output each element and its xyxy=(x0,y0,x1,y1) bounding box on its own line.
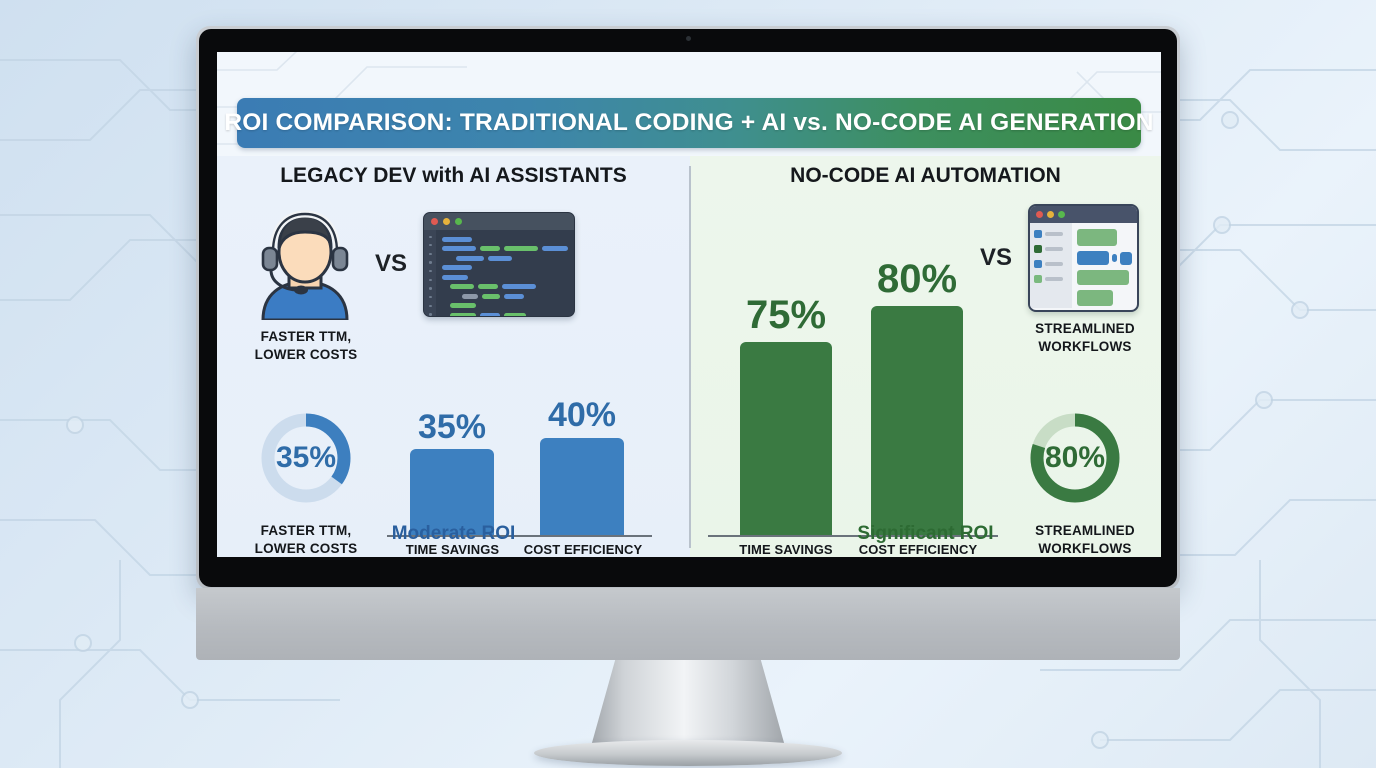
bar-value-time-savings-legacy: 35% xyxy=(399,408,505,447)
page-title: ROI COMPARISON: TRADITIONAL CODING + AI … xyxy=(224,109,1153,137)
code-lines xyxy=(436,230,574,316)
right-vs-label: VS xyxy=(980,244,1012,272)
bar-chart-nocode: 75% TIME SAVINGS 80% COST EFFICIENCY xyxy=(708,208,1008,548)
title-banner: ROI COMPARISON: TRADITIONAL CODING + AI … xyxy=(237,98,1141,148)
donut-right-value: 80% xyxy=(1027,410,1123,506)
webcam-icon xyxy=(686,36,691,41)
bar-value-time-savings-nocode: 75% xyxy=(726,293,846,338)
developer-caption: FASTER TTM, LOWER COSTS xyxy=(241,328,371,364)
close-dot-icon xyxy=(431,218,438,225)
bar-cost-efficiency-nocode xyxy=(871,306,963,535)
maximize-dot-icon xyxy=(455,218,462,225)
panel-legacy-dev: LEGACY DEV with AI ASSISTANTS xyxy=(217,156,690,557)
panel-right-heading: NO-CODE AI AUTOMATION xyxy=(690,164,1161,188)
close-dot-icon xyxy=(1036,211,1043,218)
code-window-body xyxy=(424,230,574,316)
code-window-titlebar xyxy=(424,213,574,230)
monitor-stand-base xyxy=(534,740,842,766)
donut-left-value: 35% xyxy=(258,410,354,506)
bar-chart-legacy: 35% TIME SAVINGS 40% COST EFFICIENCY xyxy=(387,386,667,546)
monitor-frame: ROI COMPARISON: TRADITIONAL CODING + AI … xyxy=(196,26,1180,590)
roi-label-left: Moderate ROI xyxy=(217,523,690,545)
minimize-dot-icon xyxy=(443,218,450,225)
panel-left-heading: LEGACY DEV with AI ASSISTANTS xyxy=(217,164,690,188)
right-icon-row: VS xyxy=(980,204,1139,312)
bar-value-cost-efficiency-legacy: 40% xyxy=(527,396,637,435)
bar-value-cost-efficiency-nocode: 80% xyxy=(856,257,978,302)
monitor-chin xyxy=(196,588,1180,660)
roi-label-right: Significant ROI xyxy=(690,523,1161,545)
bar-cost-efficiency-legacy xyxy=(540,438,624,535)
no-code-builder-window xyxy=(1028,204,1139,312)
monitor-screen: ROI COMPARISON: TRADITIONAL CODING + AI … xyxy=(217,52,1161,557)
minimize-dot-icon xyxy=(1047,211,1054,218)
developer-headset-icon xyxy=(253,208,357,320)
code-gutter xyxy=(424,230,436,316)
nocode-canvas xyxy=(1072,223,1137,308)
panel-divider xyxy=(689,166,691,548)
maximize-dot-icon xyxy=(1058,211,1065,218)
nocode-window-caption: STREAMLINED WORKFLOWS xyxy=(1021,320,1149,356)
nocode-window-titlebar xyxy=(1030,206,1137,223)
panel-no-code: NO-CODE AI AUTOMATION 75% TIME SAVINGS 8… xyxy=(690,156,1161,557)
comparison-panels: LEGACY DEV with AI ASSISTANTS xyxy=(217,156,1161,557)
nocode-sidebar xyxy=(1030,223,1072,308)
bar-time-savings-nocode xyxy=(740,342,832,535)
donut-chart-streamlined: 80% xyxy=(1027,410,1123,506)
left-vs-label: VS xyxy=(375,250,407,278)
left-icon-row: VS xyxy=(253,208,575,320)
code-editor-window xyxy=(423,212,575,317)
nocode-window-body xyxy=(1030,223,1137,308)
donut-chart-faster-ttm: 35% xyxy=(258,410,354,506)
